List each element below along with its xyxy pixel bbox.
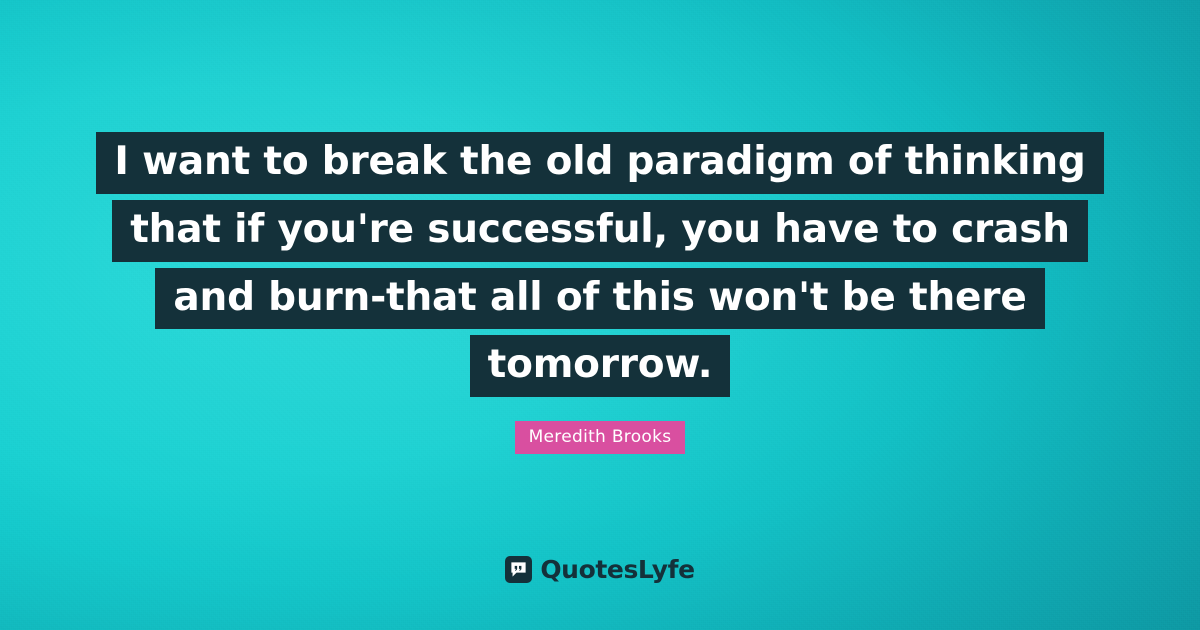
quote-text: I want to break the old paradigm of thin… [0,132,1200,403]
quote-author: Meredith Brooks [0,421,1200,454]
quote-line: and burn-that all of this won't be there [155,268,1044,330]
quote-bubble-icon [505,556,532,583]
brand-logo: QuotesLyfe [0,556,1200,583]
quote-line: I want to break the old paradigm of thin… [96,132,1103,194]
quote-line: that if you're successful, you have to c… [112,200,1088,262]
author-name: Meredith Brooks [515,421,686,454]
brand-name: QuotesLyfe [540,557,694,582]
quote-line: tomorrow. [470,335,731,397]
quote-card: I want to break the old paradigm of thin… [0,0,1200,630]
